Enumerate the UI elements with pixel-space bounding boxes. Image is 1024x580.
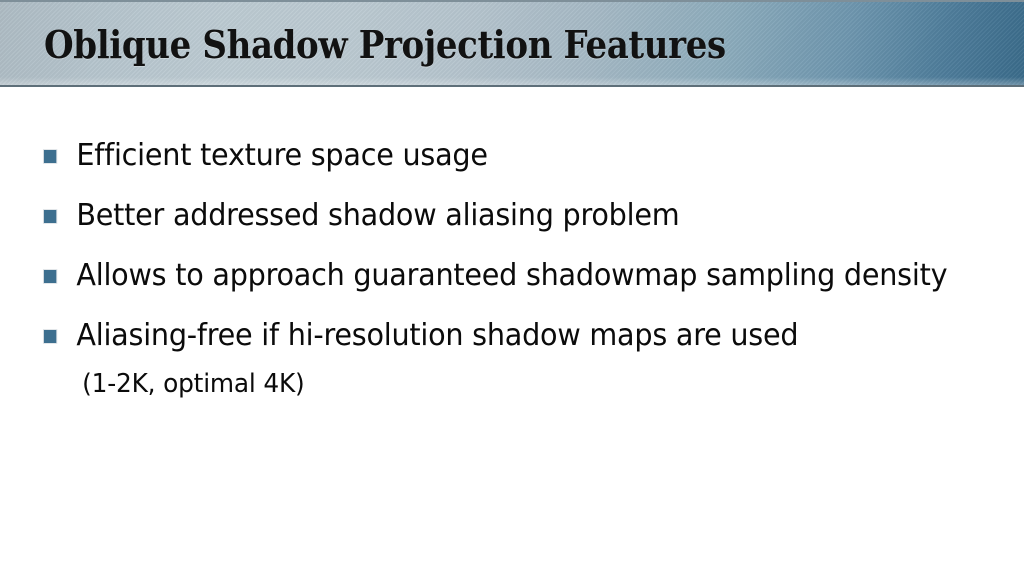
list-item: Allows to approach guaranteed shadowmap … — [42, 251, 959, 301]
bullet-list: Efficient texture space usage Better add… — [42, 131, 1002, 417]
bullet-text: Allows to approach guaranteed shadowmap … — [76, 251, 958, 301]
slide-body: Efficient texture space usage Better add… — [0, 87, 1024, 580]
square-bullet-icon — [44, 330, 56, 343]
list-item: Efficient texture space usage — [42, 131, 959, 181]
presentation-slide: Oblique Shadow Projection Features Effic… — [0, 0, 1024, 580]
square-bullet-icon — [44, 210, 56, 223]
list-item: Better addressed shadow aliasing problem — [42, 191, 959, 241]
square-bullet-icon — [44, 270, 56, 283]
bullet-subtext: (1-2K, optimal 4K) — [76, 361, 958, 407]
list-item: Aliasing-free if hi-resolution shadow ma… — [42, 311, 959, 407]
slide-title-banner: Oblique Shadow Projection Features — [0, 0, 1024, 87]
square-bullet-icon — [44, 150, 56, 163]
page-title: Oblique Shadow Projection Features — [44, 22, 726, 68]
bullet-text: Efficient texture space usage — [76, 131, 958, 181]
bullet-text: Aliasing-free if hi-resolution shadow ma… — [76, 311, 958, 361]
bullet-text: Better addressed shadow aliasing problem — [76, 191, 958, 241]
